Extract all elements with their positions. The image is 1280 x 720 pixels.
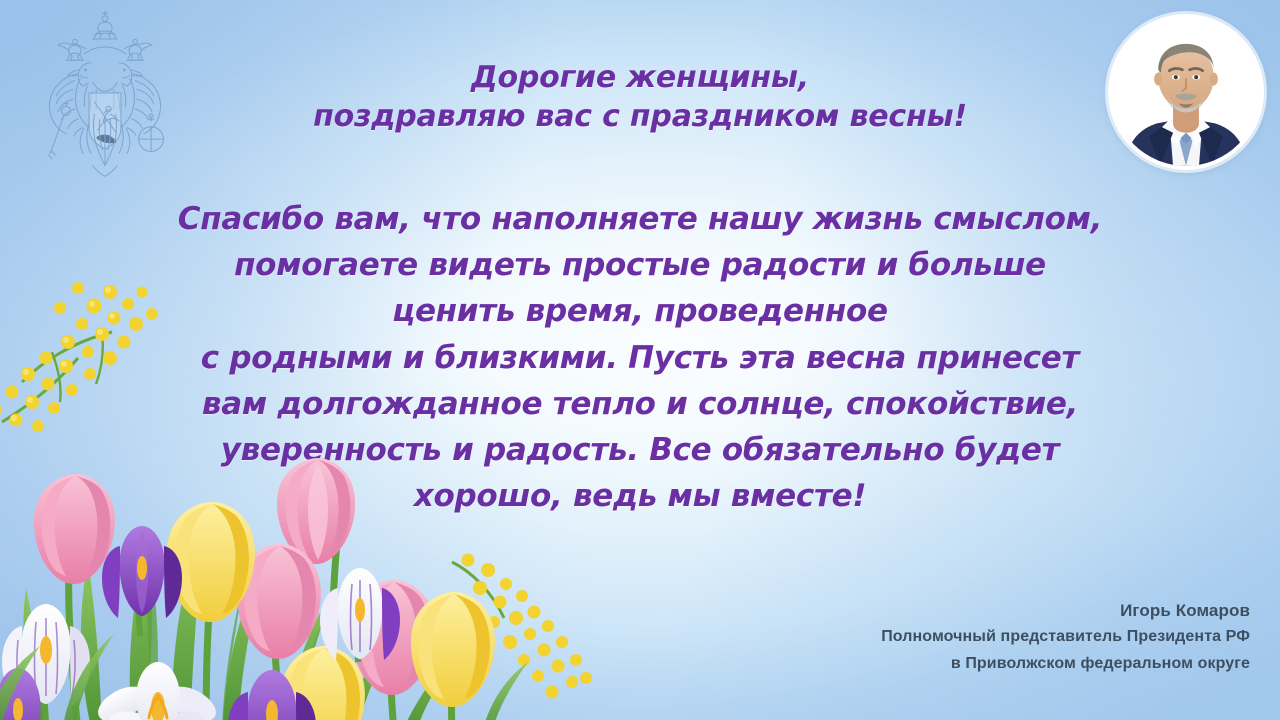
headline-line: Дорогие женщины, xyxy=(190,58,1090,97)
signature-name: Игорь Комаров xyxy=(881,601,1250,621)
message-line: Спасибо вам, что наполняете нашу жизнь с… xyxy=(150,196,1130,242)
message-line: уверенность и радость. Все обязательно б… xyxy=(150,427,1130,473)
message-body: Спасибо вам, что наполняете нашу жизнь с… xyxy=(150,196,1130,519)
signature-role-line-2: в Приволжском федеральном округе xyxy=(881,652,1250,675)
greeting-card: Дорогие женщины, поздравляю вас с праздн… xyxy=(0,0,1280,720)
message-line: помогаете видеть простые радости и больш… xyxy=(150,242,1130,288)
russian-coat-of-arms-icon xyxy=(16,8,194,194)
page-title: Дорогие женщины, поздравляю вас с праздн… xyxy=(190,58,1090,136)
message-line: вам долгожданное тепло и солнце, спокойс… xyxy=(150,381,1130,427)
headline-line: поздравляю вас с праздником весны! xyxy=(190,97,1090,136)
signature-block: Игорь Комаров Полномочный представитель … xyxy=(881,601,1250,675)
message-line: хорошо, ведь мы вместе! xyxy=(150,473,1130,519)
portrait-avatar xyxy=(1108,14,1264,170)
signature-role-line-1: Полномочный представитель Президента РФ xyxy=(881,625,1250,648)
message-line: ценить время, проведенное xyxy=(150,288,1130,334)
message-line: с родными и близкими. Пусть эта весна пр… xyxy=(150,335,1130,381)
